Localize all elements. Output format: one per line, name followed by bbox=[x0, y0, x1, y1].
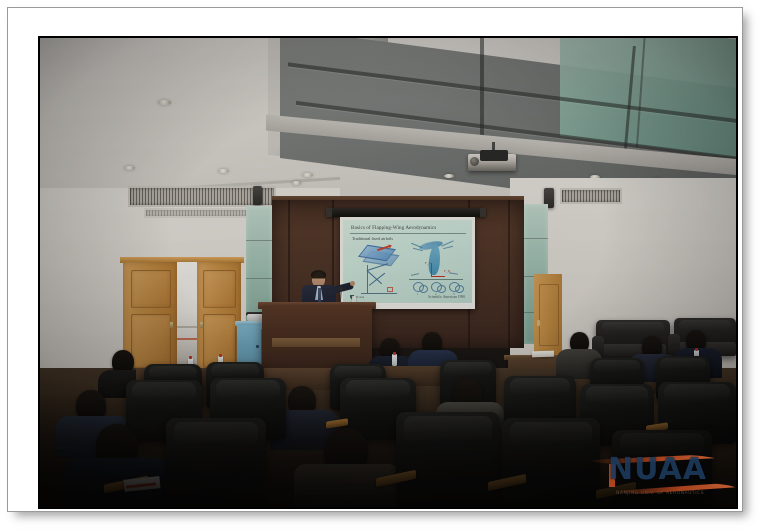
plot-annotation-box bbox=[387, 287, 393, 292]
photo-black-border: Basics of Flapping-Wing Aerodynamics Tra… bbox=[38, 36, 738, 509]
photograph: Basics of Flapping-Wing Aerodynamics Tra… bbox=[40, 38, 736, 507]
water-bottle bbox=[392, 354, 397, 366]
photo-frame: Basics of Flapping-Wing Aerodynamics Tra… bbox=[0, 0, 764, 531]
plot-curve bbox=[367, 263, 388, 270]
cabinet-handle-icon[interactable] bbox=[256, 345, 259, 348]
door-panel bbox=[539, 284, 559, 346]
flapping-wing-diagram: F_L F_D 1 2 bbox=[409, 239, 465, 297]
projection-screen: Basics of Flapping-Wing Aerodynamics Tra… bbox=[340, 217, 475, 309]
screen-valance bbox=[326, 208, 486, 217]
door-handle-icon[interactable] bbox=[170, 322, 173, 328]
vortex-arrow-icon bbox=[411, 273, 419, 275]
slide-logo-text: NUAA bbox=[355, 295, 364, 299]
vortex-loop bbox=[455, 285, 464, 293]
screen-valance-end bbox=[326, 208, 332, 217]
exterior-railing bbox=[175, 338, 197, 340]
auditorium-seat[interactable] bbox=[166, 418, 266, 507]
presenter-hand bbox=[350, 281, 355, 286]
door-handle-icon[interactable] bbox=[537, 320, 540, 326]
auditorium-seat[interactable] bbox=[396, 412, 500, 507]
projected-slide: Basics of Flapping-Wing Aerodynamics Tra… bbox=[343, 220, 472, 303]
plot-x-axis bbox=[361, 293, 397, 294]
vortex-baseline bbox=[409, 279, 463, 280]
vortex-loop bbox=[419, 285, 428, 293]
lift-force-label: F_L bbox=[425, 261, 431, 265]
slide-title-rule bbox=[350, 233, 466, 234]
wall-speaker bbox=[253, 186, 262, 205]
slide-title: Basics of Flapping-Wing Aerodynamics bbox=[351, 225, 465, 231]
frame-keyline: Basics of Flapping-Wing Aerodynamics Tra… bbox=[7, 7, 743, 512]
projector-lens-icon bbox=[470, 157, 479, 166]
wing-stroke-line bbox=[443, 246, 453, 249]
stack-of-papers bbox=[532, 351, 554, 358]
microphone-head-icon bbox=[338, 287, 343, 291]
recessed-downlight-icon bbox=[158, 100, 171, 105]
auditorium-seat[interactable] bbox=[612, 430, 712, 507]
drag-force-vector bbox=[431, 276, 445, 277]
projector-body bbox=[480, 150, 508, 161]
vortex-loop bbox=[437, 285, 446, 293]
vortex-arrow-icon bbox=[449, 272, 458, 274]
screen-valance-end bbox=[480, 208, 486, 217]
vortex-number: 1 bbox=[417, 292, 419, 296]
recessed-downlight-icon bbox=[444, 174, 454, 178]
lectern-front-panel bbox=[272, 338, 360, 347]
lift-force-vector bbox=[431, 263, 432, 277]
open-doorway-daylight bbox=[175, 262, 197, 374]
recessed-downlight-icon bbox=[292, 181, 301, 185]
recessed-downlight-icon bbox=[218, 169, 229, 173]
auditorium-seat[interactable] bbox=[502, 418, 600, 507]
lift-drag-plot bbox=[361, 265, 399, 295]
exterior-railing bbox=[175, 326, 197, 328]
presenter-tie bbox=[318, 288, 321, 302]
slide-credit: Scientific American 1990 bbox=[428, 295, 465, 299]
hvac-vent-grille bbox=[560, 188, 622, 204]
left-double-door[interactable] bbox=[123, 262, 241, 376]
recessed-downlight-icon bbox=[302, 173, 313, 177]
door-handle-icon[interactable] bbox=[200, 322, 203, 328]
recessed-downlight-icon bbox=[124, 166, 135, 170]
